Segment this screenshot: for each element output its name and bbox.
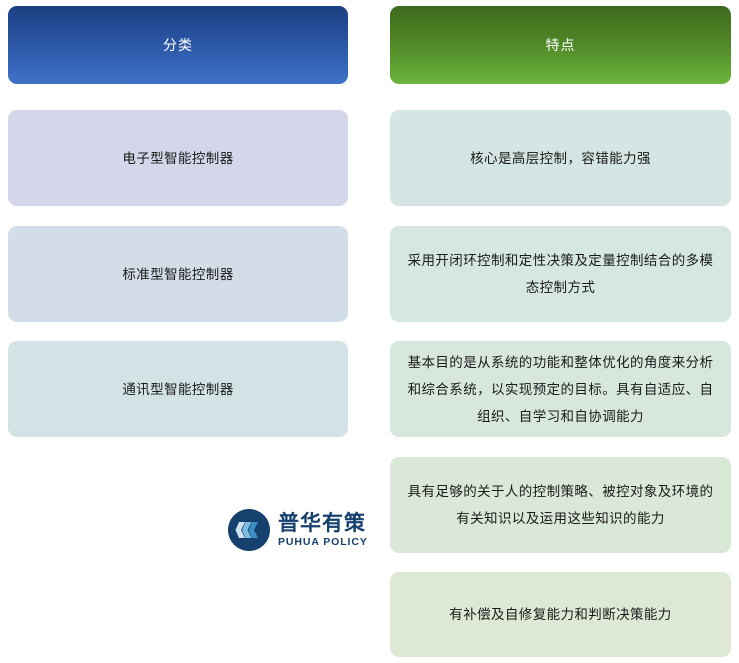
table-cell-feature-5-text: 有补偿及自修复能力和判断决策能力 (449, 601, 671, 628)
brand-logo: 普华有策 PUHUA POLICY (228, 506, 374, 554)
table-cell-feature-2-text: 采用开闭环控制和定性决策及定量控制结合的多模态控制方式 (404, 247, 717, 301)
logo-name-cn: 普华有策 (278, 513, 368, 534)
table-cell-feature-3: 基本目的是从系统的功能和整体优化的角度来分析和综合系统，以实现预定的目标。具有自… (390, 341, 731, 437)
table-cell-category-3: 通讯型智能控制器 (8, 341, 348, 437)
table-cell-category-2: 标准型智能控制器 (8, 226, 348, 322)
logo-name-en: PUHUA POLICY (278, 537, 368, 548)
logo-chevron-icon (228, 509, 270, 551)
table-cell-category-1: 电子型智能控制器 (8, 110, 348, 206)
column-header-category-label: 分类 (163, 32, 193, 59)
table-cell-feature-1: 核心是高层控制，容错能力强 (390, 110, 731, 206)
column-header-feature: 特点 (390, 6, 731, 84)
table-cell-feature-4: 具有足够的关于人的控制策略、被控对象及环境的有关知识以及运用这些知识的能力 (390, 457, 731, 553)
table-cell-feature-3-text: 基本目的是从系统的功能和整体优化的角度来分析和综合系统，以实现预定的目标。具有自… (404, 349, 717, 430)
comparison-table: 分类 电子型智能控制器 标准型智能控制器 通讯型智能控制器 特点 核心是高层控制… (0, 0, 739, 663)
table-cell-feature-1-text: 核心是高层控制，容错能力强 (470, 145, 651, 172)
column-header-feature-label: 特点 (546, 32, 576, 59)
logo-text: 普华有策 PUHUA POLICY (278, 513, 368, 548)
table-cell-feature-4-text: 具有足够的关于人的控制策略、被控对象及环境的有关知识以及运用这些知识的能力 (404, 478, 717, 532)
table-cell-feature-2: 采用开闭环控制和定性决策及定量控制结合的多模态控制方式 (390, 226, 731, 322)
column-header-category: 分类 (8, 6, 348, 84)
table-cell-category-2-text: 标准型智能控制器 (122, 261, 233, 288)
table-cell-category-3-text: 通讯型智能控制器 (122, 376, 233, 403)
table-cell-feature-5: 有补偿及自修复能力和判断决策能力 (390, 572, 731, 657)
table-cell-category-1-text: 电子型智能控制器 (122, 145, 233, 172)
